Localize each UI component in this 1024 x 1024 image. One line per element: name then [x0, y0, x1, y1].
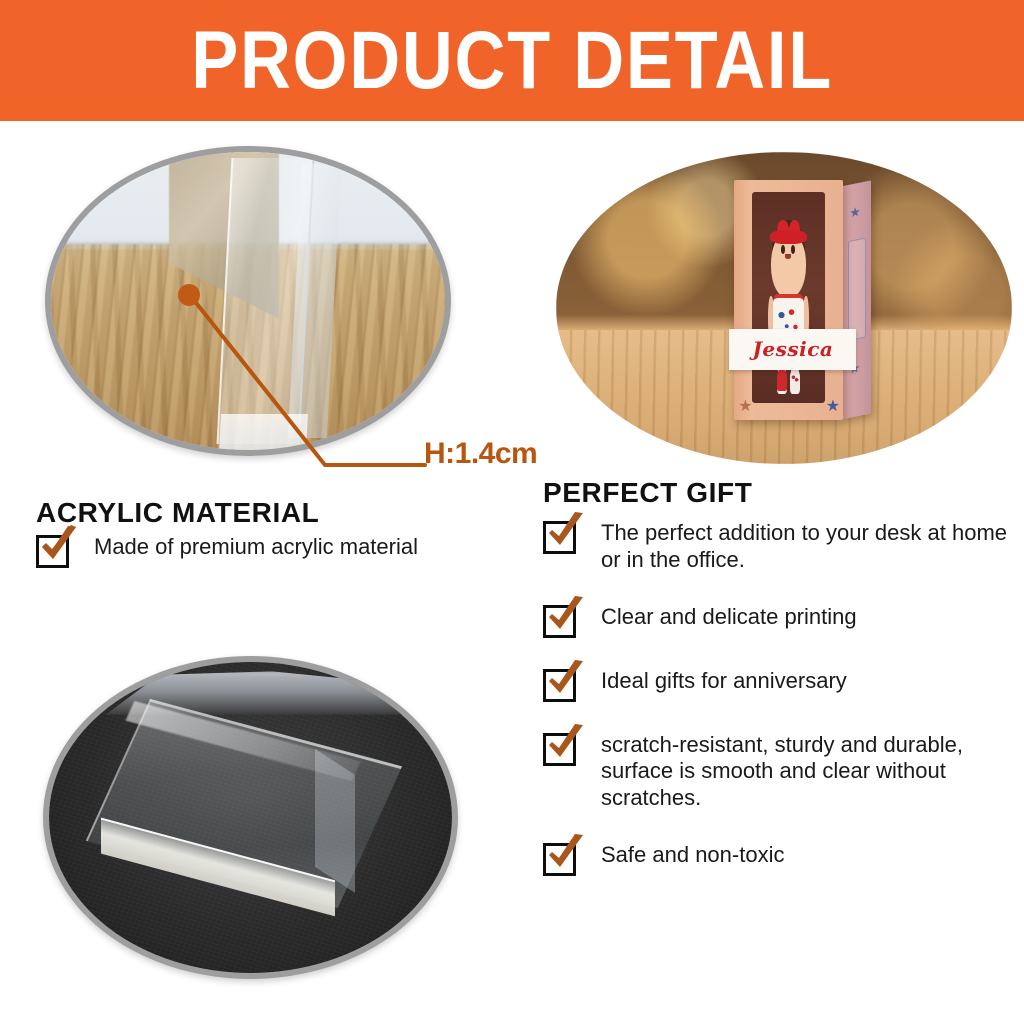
checkbox-checked-icon [543, 840, 579, 876]
wood-table-scene [51, 152, 445, 450]
box-side-graphic [848, 238, 867, 341]
checkmark-glyph [545, 511, 587, 555]
doll-eye-right [791, 245, 795, 254]
star-icon: ★ [826, 396, 840, 416]
checkmark-glyph [545, 659, 587, 703]
measurement-label: H:1.4cm [424, 437, 537, 471]
list-item-label: Safe and non-toxic [601, 838, 784, 869]
checkmark-glyph [545, 833, 587, 877]
header-banner: PRODUCT DETAIL [0, 0, 1024, 121]
checkbox-checked-icon [543, 666, 579, 702]
gift-box-side-panel: ★ ★ [843, 181, 871, 420]
gift-box: ★ ★ [734, 180, 843, 420]
doll-mouth [785, 254, 791, 259]
section-heading-perfect-gift: PERFECT GIFT [543, 477, 752, 509]
list-item: Clear and delicate printing [543, 600, 1013, 638]
doll-eye-left [781, 245, 785, 254]
checkmark-glyph [38, 525, 80, 569]
gift-box-window [752, 192, 824, 403]
checkbox-checked-icon [36, 532, 72, 568]
photo-acrylic-block-flat [43, 656, 458, 979]
photo-doll-gift-box: ★ ★ [556, 152, 1012, 464]
list-item-label: scratch-resistant, sturdy and durable, s… [601, 728, 1013, 812]
list-item-label: Ideal gifts for anniversary [601, 664, 847, 695]
list-item: Made of premium acrylic material [36, 530, 536, 568]
list-item: The perfect addition to your desk at hom… [543, 516, 1013, 574]
doll-shoe-right [790, 370, 800, 394]
feature-list-perfect-gift: The perfect addition to your desk at hom… [543, 516, 1013, 902]
doll-headband [770, 230, 806, 244]
list-item-label: The perfect addition to your desk at hom… [601, 516, 1013, 574]
checkmark-glyph [545, 723, 587, 767]
doll-shoe-left [777, 370, 787, 394]
checkbox-checked-icon [543, 518, 579, 554]
photo-acrylic-block-edge [45, 146, 451, 456]
feature-list-acrylic-material: Made of premium acrylic material [36, 530, 536, 594]
page-title: PRODUCT DETAIL [191, 20, 833, 102]
slate-scene [49, 662, 452, 973]
star-icon: ★ [850, 204, 862, 222]
doll-name-text: Jessica [752, 337, 833, 361]
gift-box-name-band: Jessica [729, 329, 856, 370]
acrylic-base-edge [219, 414, 308, 450]
star-icon: ★ [738, 396, 752, 416]
gift-box-front-panel: ★ ★ [734, 180, 843, 420]
list-item-label: Clear and delicate printing [601, 600, 857, 631]
list-item: Safe and non-toxic [543, 838, 1013, 876]
list-item: scratch-resistant, sturdy and durable, s… [543, 728, 1013, 812]
checkmark-glyph [545, 595, 587, 639]
checkbox-checked-icon [543, 730, 579, 766]
checkbox-checked-icon [543, 602, 579, 638]
list-item: Ideal gifts for anniversary [543, 664, 1013, 702]
callout-anchor-dot [178, 284, 200, 306]
list-item-label: Made of premium acrylic material [94, 530, 418, 561]
